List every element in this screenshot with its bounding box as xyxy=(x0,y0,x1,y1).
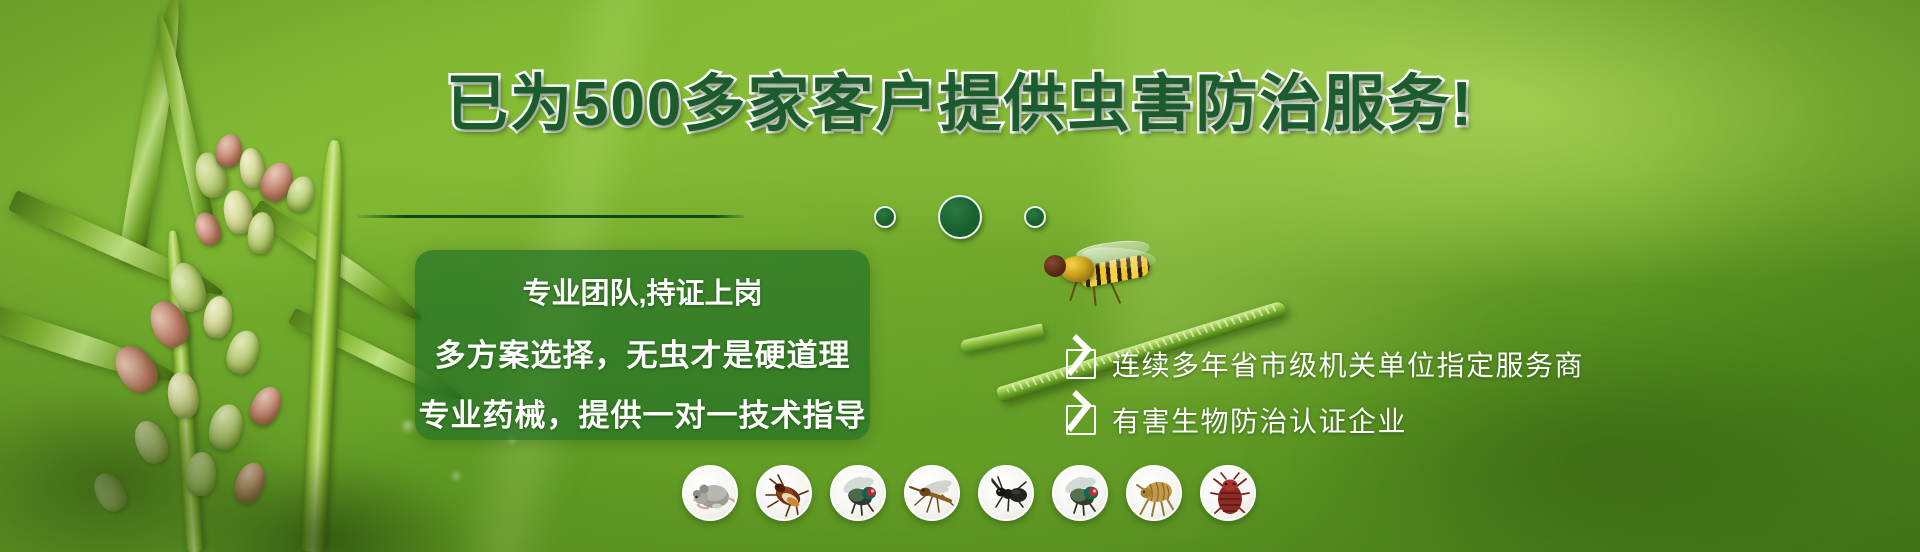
checklist-item: 连续多年省市级机关单位指定服务商 xyxy=(1066,336,1584,392)
divider-rule xyxy=(358,215,744,218)
checklist-item: 有害生物防治认证企业 xyxy=(1066,392,1584,448)
claims-panel: 专业团队,持证上岗 多方案选择，无虫才是硬道理 专业药械，提供一对一技术指导 xyxy=(415,250,870,440)
bedbug-icon xyxy=(1200,465,1256,521)
ant-icon xyxy=(978,465,1034,521)
checklist-item-label: 有害生物防治认证企业 xyxy=(1112,400,1407,440)
decorative-dot-small-left xyxy=(874,206,896,228)
mosquito-icon xyxy=(904,465,960,521)
pest-control-promo-banner: 已为500多家客户提供虫害防治服务! 专业团队,持证上岗 多方案选择，无虫才是硬… xyxy=(0,0,1920,552)
cockroach-icon xyxy=(756,465,812,521)
housefly-icon xyxy=(830,465,886,521)
hoverfly-icon xyxy=(1042,246,1162,300)
blowfly-icon xyxy=(1052,465,1108,521)
certification-checklist: 连续多年省市级机关单位指定服务商 有害生物防治认证企业 xyxy=(1066,336,1584,448)
decorative-dot-large xyxy=(938,195,982,239)
checklist-item-label: 连续多年省市级机关单位指定服务商 xyxy=(1112,344,1584,384)
claim-line-2: 多方案选择，无虫才是硬道理 xyxy=(415,330,870,375)
headline: 已为500多家客户提供虫害防治服务! xyxy=(0,74,1920,136)
mouse-icon xyxy=(682,465,738,521)
claim-line-1: 专业团队,持证上岗 xyxy=(415,270,870,312)
checkbox-checked-icon xyxy=(1066,405,1096,435)
pest-icon-strip xyxy=(682,465,1256,521)
flea-icon xyxy=(1126,465,1182,521)
headline-text: 已为500多家客户提供虫害防治服务! xyxy=(446,70,1474,139)
checkbox-checked-icon xyxy=(1066,349,1096,379)
hoverfly-head xyxy=(1044,255,1066,277)
claim-line-3: 专业药械，提供一对一技术指导 xyxy=(415,390,870,435)
decorative-dot-small-right xyxy=(1024,206,1046,228)
decorative-dots-row xyxy=(0,195,1920,239)
